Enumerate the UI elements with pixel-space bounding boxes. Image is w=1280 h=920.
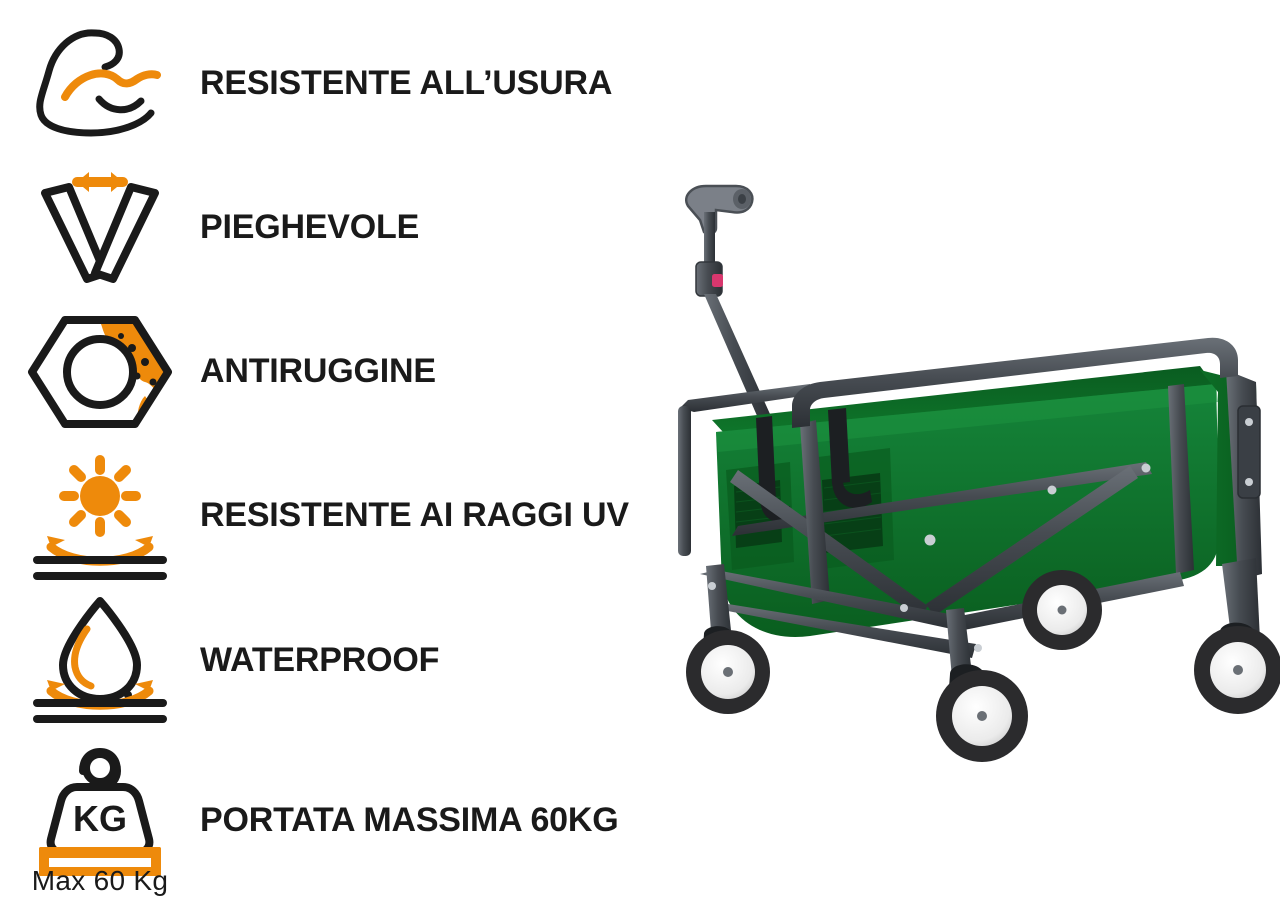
flexed-biceps-icon (0, 8, 200, 158)
feature-row: WATERPROOF (0, 585, 700, 735)
feature-label: RESISTENTE ALL’USURA (200, 66, 612, 100)
folding-panels-icon (0, 152, 200, 302)
infographic-canvas: RESISTENTE ALL’USURA PIEGHEVOLE (0, 0, 1280, 920)
handle-release-button (712, 274, 723, 287)
weight-kg-icon: KG Max 60 Kg (0, 735, 200, 910)
wagon-wheel-front-left (936, 664, 1028, 762)
feature-row: ANTIRUGGINE (0, 296, 700, 446)
rusty-hex-nut-icon (0, 296, 200, 446)
feature-row: RESISTENTE AI RAGGI UV (0, 440, 700, 590)
sun-deflect-icon (0, 440, 200, 590)
feature-row: KG Max 60 Kg PORTATA MASSIMA 60KG (0, 735, 700, 910)
weight-badge-text: KG (73, 798, 127, 839)
feature-row: RESISTENTE ALL’USURA (0, 8, 700, 158)
water-drop-deflect-icon (0, 585, 200, 735)
wagon-handle (686, 186, 770, 418)
product-image-folding-wagon (660, 170, 1280, 790)
wagon-wheel-rear-left (686, 626, 770, 714)
wagon-wheel-rear-right (1022, 570, 1102, 650)
max-load-caption: Max 60 Kg (0, 865, 200, 897)
feature-label: WATERPROOF (200, 643, 439, 677)
wagon-illustration (660, 170, 1280, 790)
feature-label: RESISTENTE AI RAGGI UV (200, 498, 629, 532)
feature-label: PORTATA MASSIMA 60KG (200, 803, 619, 837)
feature-label: ANTIRUGGINE (200, 354, 436, 388)
feature-row: PIEGHEVOLE (0, 152, 700, 302)
feature-list: RESISTENTE ALL’USURA PIEGHEVOLE (0, 0, 700, 920)
wagon-wheel-front-right (1194, 623, 1280, 714)
feature-label: PIEGHEVOLE (200, 210, 419, 244)
